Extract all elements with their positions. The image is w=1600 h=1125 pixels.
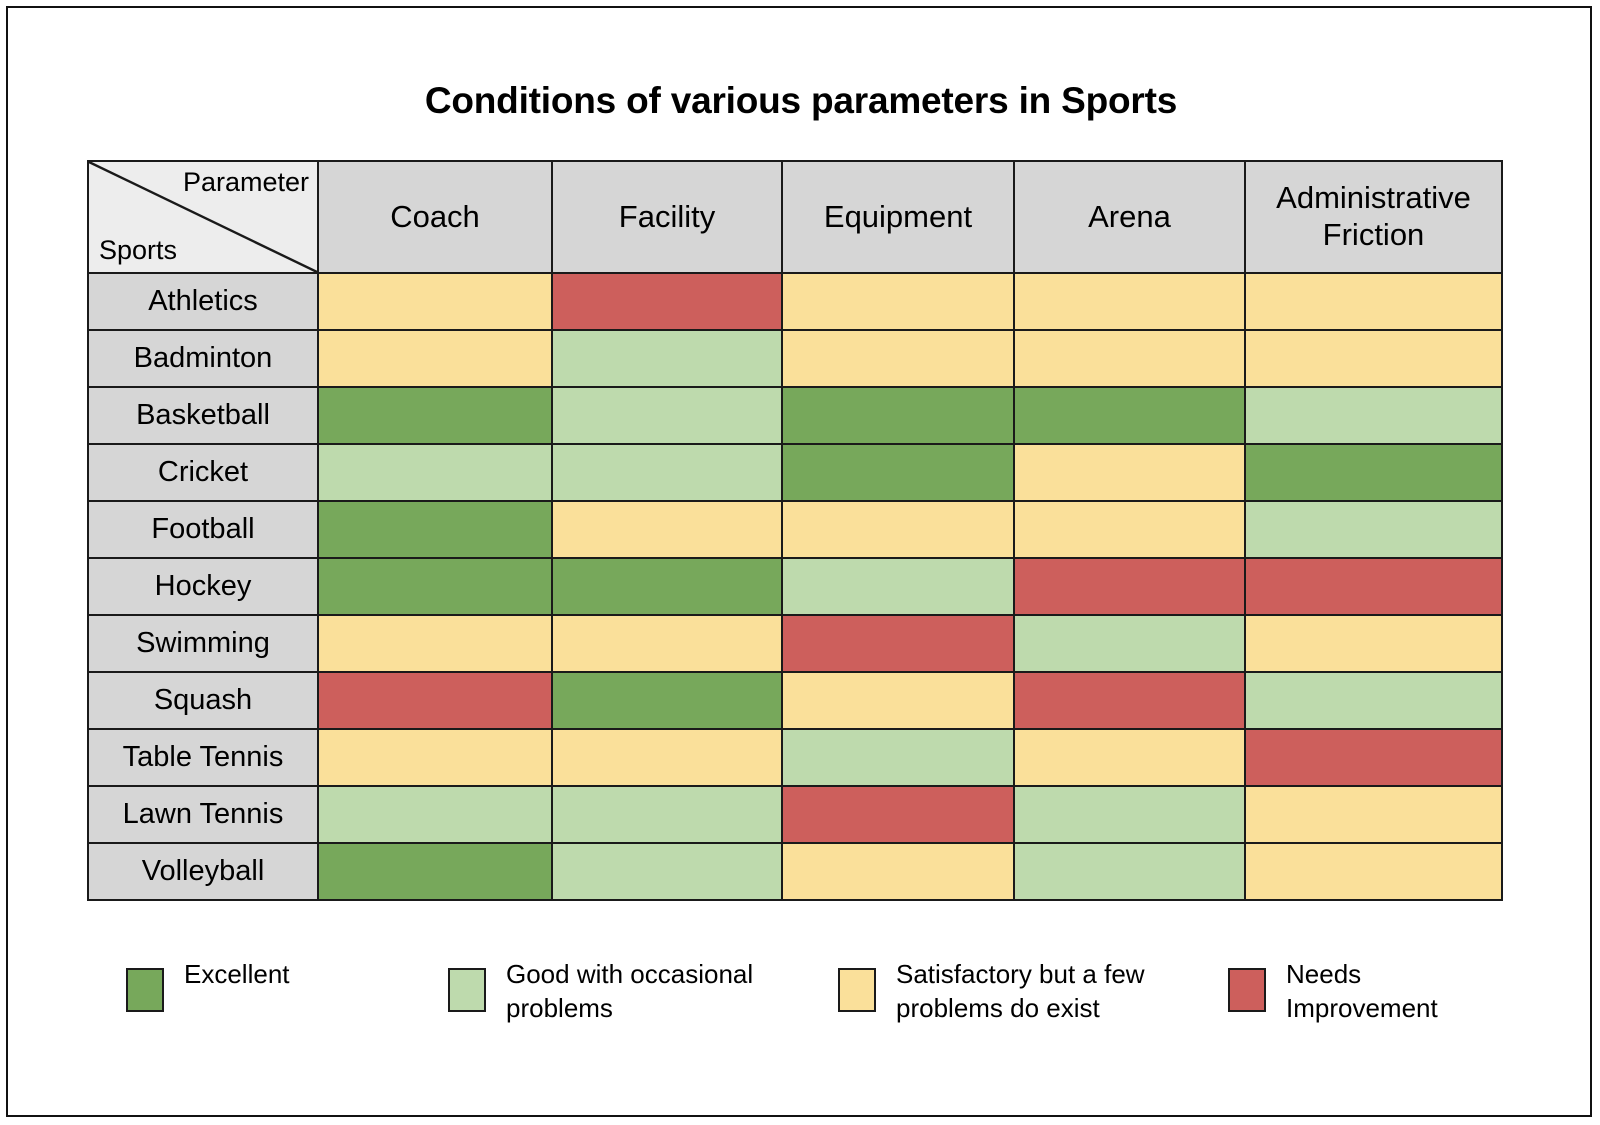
cell-lawn-tennis-arena[interactable] <box>1014 786 1245 843</box>
cell-squash-coach[interactable] <box>318 672 552 729</box>
legend-label-satisfactory: Satisfactory but a few problems do exist <box>896 958 1145 1026</box>
cell-table-tennis-coach[interactable] <box>318 729 552 786</box>
column-header-administrative-friction[interactable]: Administrative Friction <box>1245 161 1502 273</box>
cell-basketball-coach[interactable] <box>318 387 552 444</box>
cell-squash-facility[interactable] <box>552 672 782 729</box>
cell-table-tennis-equipment[interactable] <box>782 729 1014 786</box>
cell-squash-administrative-friction[interactable] <box>1245 672 1502 729</box>
cell-lawn-tennis-equipment[interactable] <box>782 786 1014 843</box>
cell-hockey-arena[interactable] <box>1014 558 1245 615</box>
legend-item-good[interactable]: Good with occasional problems <box>448 958 778 1026</box>
cell-lawn-tennis-coach[interactable] <box>318 786 552 843</box>
cell-hockey-administrative-friction[interactable] <box>1245 558 1502 615</box>
cell-athletics-arena[interactable] <box>1014 273 1245 330</box>
table-row: Basketball <box>88 387 1502 444</box>
row-header-hockey[interactable]: Hockey <box>88 558 318 615</box>
cell-lawn-tennis-facility[interactable] <box>552 786 782 843</box>
cell-cricket-coach[interactable] <box>318 444 552 501</box>
row-header-swimming[interactable]: Swimming <box>88 615 318 672</box>
cell-swimming-facility[interactable] <box>552 615 782 672</box>
cell-football-arena[interactable] <box>1014 501 1245 558</box>
cell-basketball-administrative-friction[interactable] <box>1245 387 1502 444</box>
row-header-squash[interactable]: Squash <box>88 672 318 729</box>
cell-football-facility[interactable] <box>552 501 782 558</box>
legend-swatch-needs-improvement <box>1228 968 1266 1012</box>
legend-swatch-satisfactory <box>838 968 876 1012</box>
cell-hockey-coach[interactable] <box>318 558 552 615</box>
cell-table-tennis-arena[interactable] <box>1014 729 1245 786</box>
column-header-coach[interactable]: Coach <box>318 161 552 273</box>
column-header-facility[interactable]: Facility <box>552 161 782 273</box>
cell-lawn-tennis-administrative-friction[interactable] <box>1245 786 1502 843</box>
cell-swimming-administrative-friction[interactable] <box>1245 615 1502 672</box>
cell-badminton-arena[interactable] <box>1014 330 1245 387</box>
cell-football-coach[interactable] <box>318 501 552 558</box>
cell-athletics-coach[interactable] <box>318 273 552 330</box>
page-title: Conditions of various parameters in Spor… <box>8 80 1594 122</box>
table-row: Football <box>88 501 1502 558</box>
legend: Excellent Good with occasional problems … <box>118 958 1518 1068</box>
table-header: Parameter Sports Coach Facility Equipmen… <box>88 161 1502 273</box>
cell-badminton-facility[interactable] <box>552 330 782 387</box>
cell-cricket-equipment[interactable] <box>782 444 1014 501</box>
table-row: Athletics <box>88 273 1502 330</box>
row-header-cricket[interactable]: Cricket <box>88 444 318 501</box>
table-row: Hockey <box>88 558 1502 615</box>
cell-swimming-equipment[interactable] <box>782 615 1014 672</box>
cell-football-administrative-friction[interactable] <box>1245 501 1502 558</box>
table-row: Volleyball <box>88 843 1502 900</box>
cell-hockey-facility[interactable] <box>552 558 782 615</box>
cell-cricket-administrative-friction[interactable] <box>1245 444 1502 501</box>
cell-basketball-arena[interactable] <box>1014 387 1245 444</box>
legend-swatch-good <box>448 968 486 1012</box>
column-header-equipment[interactable]: Equipment <box>782 161 1014 273</box>
table-row: Lawn Tennis <box>88 786 1502 843</box>
column-header-arena[interactable]: Arena <box>1014 161 1245 273</box>
legend-label-excellent: Excellent <box>184 958 290 992</box>
row-header-athletics[interactable]: Athletics <box>88 273 318 330</box>
cell-squash-arena[interactable] <box>1014 672 1245 729</box>
table-row: Table Tennis <box>88 729 1502 786</box>
cell-athletics-equipment[interactable] <box>782 273 1014 330</box>
row-axis-label: Sports <box>99 236 177 266</box>
legend-label-good: Good with occasional problems <box>506 958 753 1026</box>
cell-cricket-facility[interactable] <box>552 444 782 501</box>
row-header-football[interactable]: Football <box>88 501 318 558</box>
cell-volleyball-facility[interactable] <box>552 843 782 900</box>
row-header-lawn-tennis[interactable]: Lawn Tennis <box>88 786 318 843</box>
page-frame: Conditions of various parameters in Spor… <box>6 6 1592 1117</box>
cell-badminton-equipment[interactable] <box>782 330 1014 387</box>
legend-swatch-excellent <box>126 968 164 1012</box>
table-row: Swimming <box>88 615 1502 672</box>
cell-volleyball-coach[interactable] <box>318 843 552 900</box>
cell-table-tennis-administrative-friction[interactable] <box>1245 729 1502 786</box>
cell-volleyball-arena[interactable] <box>1014 843 1245 900</box>
legend-item-excellent[interactable]: Excellent <box>126 958 426 1012</box>
cell-athletics-administrative-friction[interactable] <box>1245 273 1502 330</box>
cell-basketball-equipment[interactable] <box>782 387 1014 444</box>
table-body: AthleticsBadmintonBasketballCricketFootb… <box>88 273 1502 900</box>
cell-football-equipment[interactable] <box>782 501 1014 558</box>
cell-badminton-coach[interactable] <box>318 330 552 387</box>
cell-badminton-administrative-friction[interactable] <box>1245 330 1502 387</box>
conditions-matrix-table: Parameter Sports Coach Facility Equipmen… <box>87 160 1503 901</box>
corner-axis-cell: Parameter Sports <box>88 161 318 273</box>
cell-basketball-facility[interactable] <box>552 387 782 444</box>
row-header-volleyball[interactable]: Volleyball <box>88 843 318 900</box>
header-row: Parameter Sports Coach Facility Equipmen… <box>88 161 1502 273</box>
legend-label-needs-improvement: Needs Improvement <box>1286 958 1438 1026</box>
cell-table-tennis-facility[interactable] <box>552 729 782 786</box>
table-row: Badminton <box>88 330 1502 387</box>
cell-athletics-facility[interactable] <box>552 273 782 330</box>
cell-volleyball-equipment[interactable] <box>782 843 1014 900</box>
legend-item-needs-improvement[interactable]: Needs Improvement <box>1228 958 1518 1026</box>
row-header-table-tennis[interactable]: Table Tennis <box>88 729 318 786</box>
row-header-basketball[interactable]: Basketball <box>88 387 318 444</box>
cell-squash-equipment[interactable] <box>782 672 1014 729</box>
table-row: Squash <box>88 672 1502 729</box>
row-header-badminton[interactable]: Badminton <box>88 330 318 387</box>
cell-hockey-equipment[interactable] <box>782 558 1014 615</box>
table-row: Cricket <box>88 444 1502 501</box>
cell-swimming-arena[interactable] <box>1014 615 1245 672</box>
cell-swimming-coach[interactable] <box>318 615 552 672</box>
cell-cricket-arena[interactable] <box>1014 444 1245 501</box>
legend-item-satisfactory[interactable]: Satisfactory but a few problems do exist <box>838 958 1178 1026</box>
cell-volleyball-administrative-friction[interactable] <box>1245 843 1502 900</box>
column-axis-label: Parameter <box>183 168 309 198</box>
